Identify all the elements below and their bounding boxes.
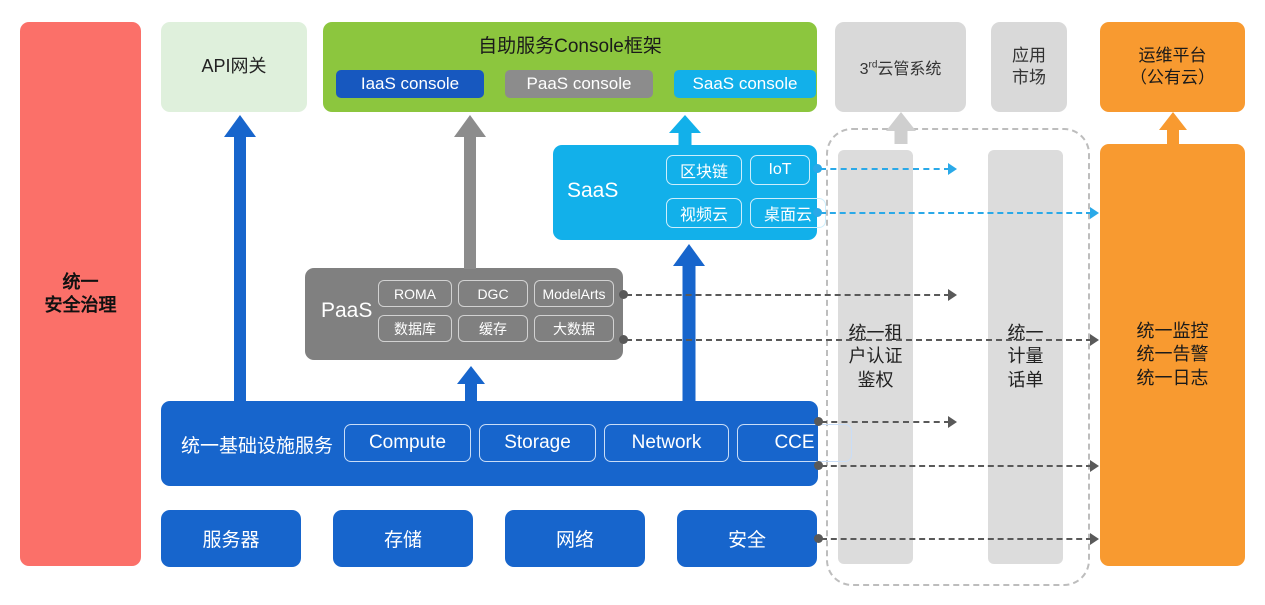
security-governance-label: 统一 安全治理 [45, 271, 117, 317]
connector-paas-to-ops [626, 339, 1092, 341]
saas-layer-box: SaaS 区块链 IoT 视频云 桌面云 [553, 145, 817, 240]
paas-chip-database[interactable]: 数据库 [378, 315, 452, 342]
saas-layer-title: SaaS [567, 179, 618, 203]
arrow-saas-to-console [669, 115, 701, 146]
arrow-ops-main-to-ops-top [1158, 112, 1188, 145]
resource-box-security[interactable]: 安全 [677, 510, 817, 567]
infra-chip-cce[interactable]: CCE [737, 424, 852, 462]
iaas-console-chip[interactable]: IaaS console [336, 70, 484, 98]
paas-chip-modelarts[interactable]: ModelArts [534, 280, 614, 307]
arrow-paas-to-console [454, 115, 486, 269]
unified-tenant-auth-label: 统一租 户认证 鉴权 [849, 322, 903, 392]
resource-box-network[interactable]: 网络 [505, 510, 645, 567]
saas-chip-blockchain[interactable]: 区块链 [666, 155, 742, 185]
connector-arrowhead-saas-auth [948, 163, 957, 175]
resource-box-storage[interactable]: 存储 [333, 510, 473, 567]
paas-layer-box: PaaS ROMA DGC ModelArts 数据库 缓存 大数据 [305, 268, 623, 360]
connector-arrowhead-infra-auth [948, 416, 957, 428]
saas-chip-iot[interactable]: IoT [750, 155, 810, 185]
connector-infra-to-auth [821, 421, 950, 423]
third-party-cloud-mgmt-box: 3rd云管系统 [835, 22, 966, 112]
arrow-shared-to-third-party [886, 112, 916, 144]
architecture-diagram: 统一 安全治理 API网关 自助服务Console框架 IaaS console… [0, 0, 1265, 605]
paas-layer-title: PaaS [321, 299, 372, 323]
ops-platform-label: 运维平台 （公有云） [1130, 45, 1215, 89]
connector-saas-to-auth [820, 168, 950, 170]
ops-monitoring-label: 统一监控 统一告警 统一日志 [1137, 320, 1209, 389]
api-gateway-box: API网关 [161, 22, 307, 112]
app-market-label: 应用 市场 [1012, 45, 1046, 89]
arrow-infra-to-saas [673, 244, 705, 402]
infra-chip-network[interactable]: Network [604, 424, 729, 462]
connector-arrowhead-saas-ops [1090, 207, 1099, 219]
paas-console-chip[interactable]: PaaS console [505, 70, 653, 98]
infra-chip-compute[interactable]: Compute [344, 424, 471, 462]
console-framework-title: 自助服务Console框架 [323, 31, 817, 58]
connector-infra-to-ops [821, 465, 1092, 467]
resource-box-server[interactable]: 服务器 [161, 510, 301, 567]
connector-arrowhead-paas-ops [1090, 334, 1099, 346]
connector-paas-to-auth [626, 294, 950, 296]
saas-console-chip[interactable]: SaaS console [674, 70, 816, 98]
connector-resources-to-ops [821, 538, 1092, 540]
third-party-label: 3rd云管系统 [860, 55, 942, 79]
arrow-infra-to-paas [457, 366, 485, 402]
saas-chip-video-cloud[interactable]: 视频云 [666, 198, 742, 228]
ops-platform-public-cloud-box: 运维平台 （公有云） [1100, 22, 1245, 112]
arrow-infra-to-api-gateway [224, 115, 256, 402]
infra-chip-storage[interactable]: Storage [479, 424, 596, 462]
console-framework-box: 自助服务Console框架 IaaS console PaaS console … [323, 22, 817, 112]
paas-chip-bigdata[interactable]: 大数据 [534, 315, 614, 342]
unified-infrastructure-bar: 统一基础设施服务 Compute Storage Network CCE [161, 401, 818, 486]
api-gateway-label: API网关 [201, 55, 266, 78]
ops-monitoring-panel: 统一监控 统一告警 统一日志 [1100, 144, 1245, 566]
unified-infrastructure-title: 统一基础设施服务 [181, 431, 333, 458]
security-governance-panel: 统一 安全治理 [20, 22, 141, 566]
connector-arrowhead-resources-ops [1090, 533, 1099, 545]
paas-chip-cache[interactable]: 缓存 [458, 315, 528, 342]
connector-saas-to-ops [820, 212, 1092, 214]
paas-chip-roma[interactable]: ROMA [378, 280, 452, 307]
connector-arrowhead-infra-ops [1090, 460, 1099, 472]
app-market-box: 应用 市场 [991, 22, 1067, 112]
paas-chip-dgc[interactable]: DGC [458, 280, 528, 307]
connector-arrowhead-paas-auth [948, 289, 957, 301]
unified-metering-billing-label: 统一 计量 话单 [1008, 322, 1044, 392]
